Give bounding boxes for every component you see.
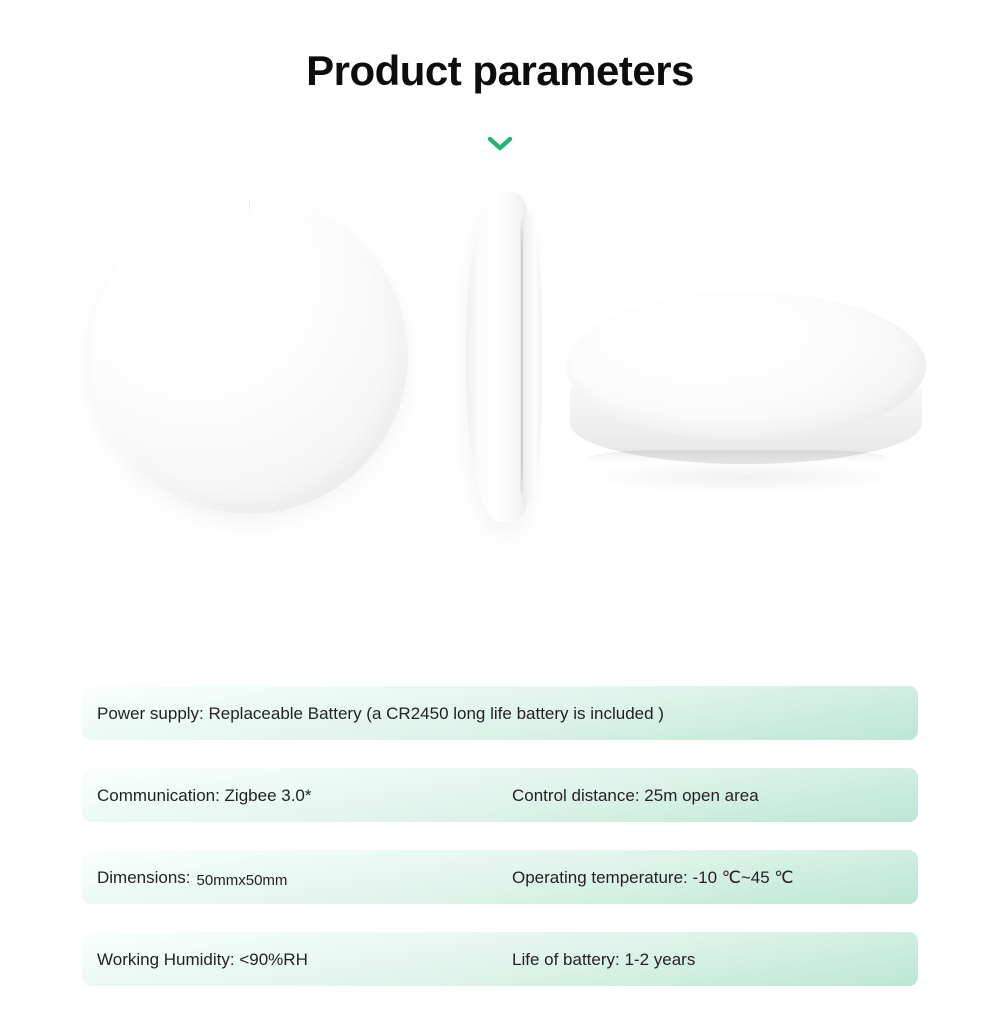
side-view-body [466,192,528,522]
spec-list: Power supply: Replaceable Battery (a CR2… [82,686,918,1014]
spec-row-dimensions: Dimensions:50mmx50mm Operating temperatu… [82,850,918,904]
product-front-view [90,196,408,514]
spec-row-communication: Communication: Zigbee 3.0* Control dista… [82,768,918,822]
spec-row-humidity: Working Humidity: <90%RH Life of battery… [82,932,918,986]
product-angled-view [566,292,926,502]
spec-control-distance: Control distance: 25m open area [512,787,759,804]
chevron-down-icon [487,136,513,152]
spec-row-power-supply: Power supply: Replaceable Battery (a CR2… [82,686,918,740]
side-view-backplate [520,214,542,502]
product-gallery [0,180,1000,600]
product-side-view [466,192,550,522]
spec-dimensions: Dimensions:50mmx50mm [97,869,287,886]
angled-view-top-face [566,292,926,440]
spec-communication: Communication: Zigbee 3.0* [97,787,312,804]
side-view-seam [521,218,523,498]
spec-power-supply: Power supply: Replaceable Battery (a CR2… [97,705,664,722]
chevron-down-container [0,136,1000,152]
page-title: Product parameters [0,48,1000,94]
spec-working-humidity: Working Humidity: <90%RH [97,951,308,968]
spec-operating-temperature: Operating temperature: -10 ℃~45 ℃ [512,869,794,886]
spec-dimensions-value: 50mmx50mm [197,872,288,889]
angled-view-shadow [584,460,902,494]
spec-dimensions-label: Dimensions: [97,868,191,887]
spec-battery-life: Life of battery: 1-2 years [512,951,695,968]
